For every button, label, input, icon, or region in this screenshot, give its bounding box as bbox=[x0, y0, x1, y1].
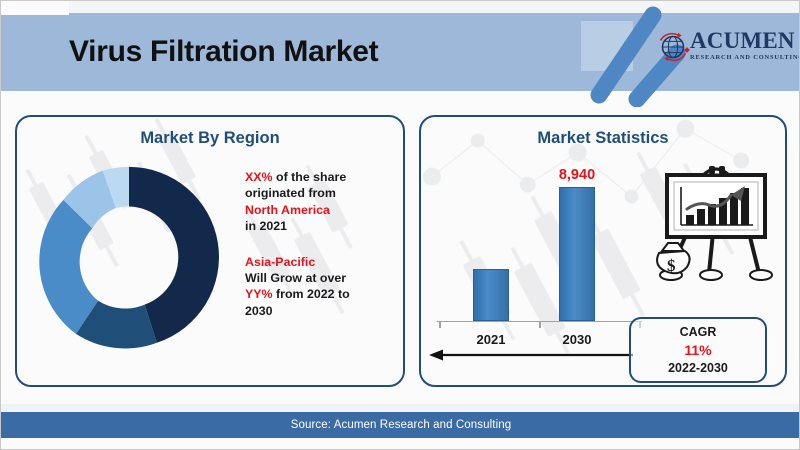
cagr-label: CAGR bbox=[631, 324, 765, 341]
cagr-value: 11% bbox=[631, 341, 765, 360]
footer-divider bbox=[1, 404, 800, 412]
brand-logo[interactable]: ACUMEN RESEARCH AND CONSULTING bbox=[656, 27, 791, 75]
axis-tick-left bbox=[439, 321, 441, 328]
callout-of-the-share: of the share bbox=[276, 170, 346, 184]
cagr-callout-box: CAGR 11% 2022-2030 bbox=[629, 317, 767, 383]
callout-yy-percent: YY% bbox=[245, 287, 273, 301]
footer: Source: Acumen Research and Consulting bbox=[1, 412, 800, 438]
logo-tagline: RESEARCH AND CONSULTING bbox=[690, 53, 791, 62]
globe-icon bbox=[656, 31, 690, 65]
donut-svg bbox=[31, 159, 227, 355]
cagr-range: 2022-2030 bbox=[631, 360, 765, 377]
callout-xx-percent: XX% bbox=[245, 170, 273, 184]
footer-source-text: Source: Acumen Research and Consulting bbox=[1, 412, 800, 438]
callout-asia-pacific-label: Asia-Pacific bbox=[245, 255, 315, 269]
callout-north-america-label: North America bbox=[245, 203, 330, 217]
market-by-region-panel: Market By Region XX% of the share origin… bbox=[15, 115, 405, 387]
bar-2030[interactable] bbox=[559, 187, 595, 321]
callout-asia-pacific: Asia-Pacific Will Grow at over YY% from … bbox=[245, 254, 397, 320]
header-corner-notch bbox=[1, 1, 69, 15]
bar-label-2030: 2030 bbox=[547, 332, 607, 347]
bar-value-2030: 8,940 bbox=[547, 167, 607, 183]
easel-growth-chart-icon: $ bbox=[653, 161, 779, 285]
bar-2021[interactable] bbox=[473, 269, 509, 321]
cagr-arrow bbox=[429, 349, 633, 361]
axis-tick-mid bbox=[539, 321, 541, 328]
market-statistics-bar-chart: 2021 8,940 2030 bbox=[437, 163, 647, 363]
callout-year-2030: 2030 bbox=[245, 304, 273, 318]
bar-label-2021: 2021 bbox=[461, 332, 521, 347]
page-title: Virus Filtration Market bbox=[69, 35, 378, 69]
svg-text:$: $ bbox=[667, 256, 676, 275]
callout-north-america: XX% of the share originated from North A… bbox=[245, 169, 397, 235]
right-panel-title: Market Statistics bbox=[421, 129, 785, 148]
region-donut-chart bbox=[31, 159, 227, 355]
left-panel-title: Market By Region bbox=[17, 129, 403, 148]
callout-originated-from: originated from bbox=[245, 186, 336, 200]
header-top-strip bbox=[69, 1, 800, 13]
logo-brand-name: ACUMEN bbox=[690, 29, 791, 53]
logo-text: ACUMEN RESEARCH AND CONSULTING bbox=[690, 29, 791, 62]
callout-in-2021: in 2021 bbox=[245, 219, 287, 233]
region-callouts: XX% of the share originated from North A… bbox=[245, 169, 397, 319]
infographic-root: Virus Filtration Market ACUMEN RESEARCH … bbox=[0, 0, 800, 450]
header: Virus Filtration Market ACUMEN RESEARCH … bbox=[1, 1, 800, 111]
market-statistics-panel: Market Statistics 2021 8,940 2030 bbox=[419, 115, 787, 387]
callout-from-2022-to: from 2022 to bbox=[276, 287, 350, 301]
callout-will-grow: Will Grow at over bbox=[245, 271, 346, 285]
